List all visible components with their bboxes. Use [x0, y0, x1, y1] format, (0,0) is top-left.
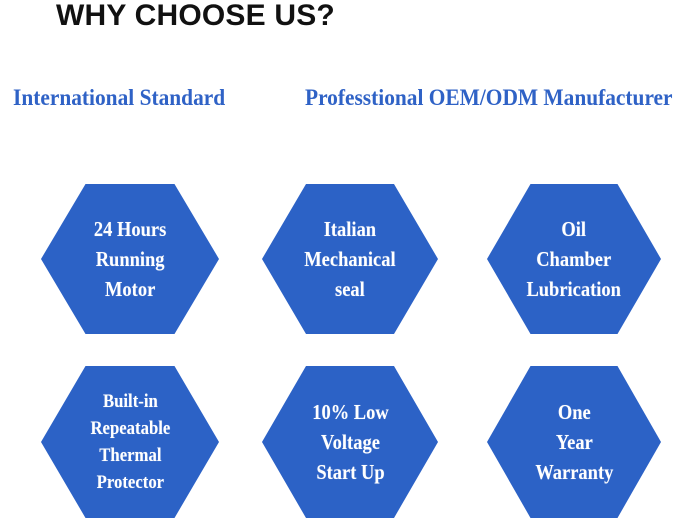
feature-hexagon-24-hours-running-motor: 24 Hours Running Motor: [41, 184, 219, 334]
feature-label: Oil Chamber Lubrication: [527, 214, 621, 304]
why-choose-us-slide: WHY CHOOSE US? International Standard Pr…: [0, 0, 700, 528]
feature-hexagon-10-percent-low-voltage-start-up: 10% Low Voltage Start Up: [262, 366, 438, 518]
feature-label: Italian Mechanical seal: [304, 214, 395, 304]
feature-label: 10% Low Voltage Start Up: [312, 397, 389, 487]
feature-hexagon-built-in-repeatable-thermal-protector: Built-in Repeatable Thermal Protector: [41, 366, 219, 518]
feature-hexagon-grid: 24 Hours Running Motor Italian Mechanica…: [0, 0, 700, 528]
feature-label: One Year Warranty: [535, 397, 613, 487]
feature-hexagon-italian-mechanical-seal: Italian Mechanical seal: [262, 184, 438, 334]
feature-label: Built-in Repeatable Thermal Protector: [90, 388, 170, 496]
feature-label: 24 Hours Running Motor: [94, 214, 166, 304]
feature-hexagon-oil-chamber-lubrication: Oil Chamber Lubrication: [487, 184, 661, 334]
feature-hexagon-one-year-warranty: One Year Warranty: [487, 366, 661, 518]
